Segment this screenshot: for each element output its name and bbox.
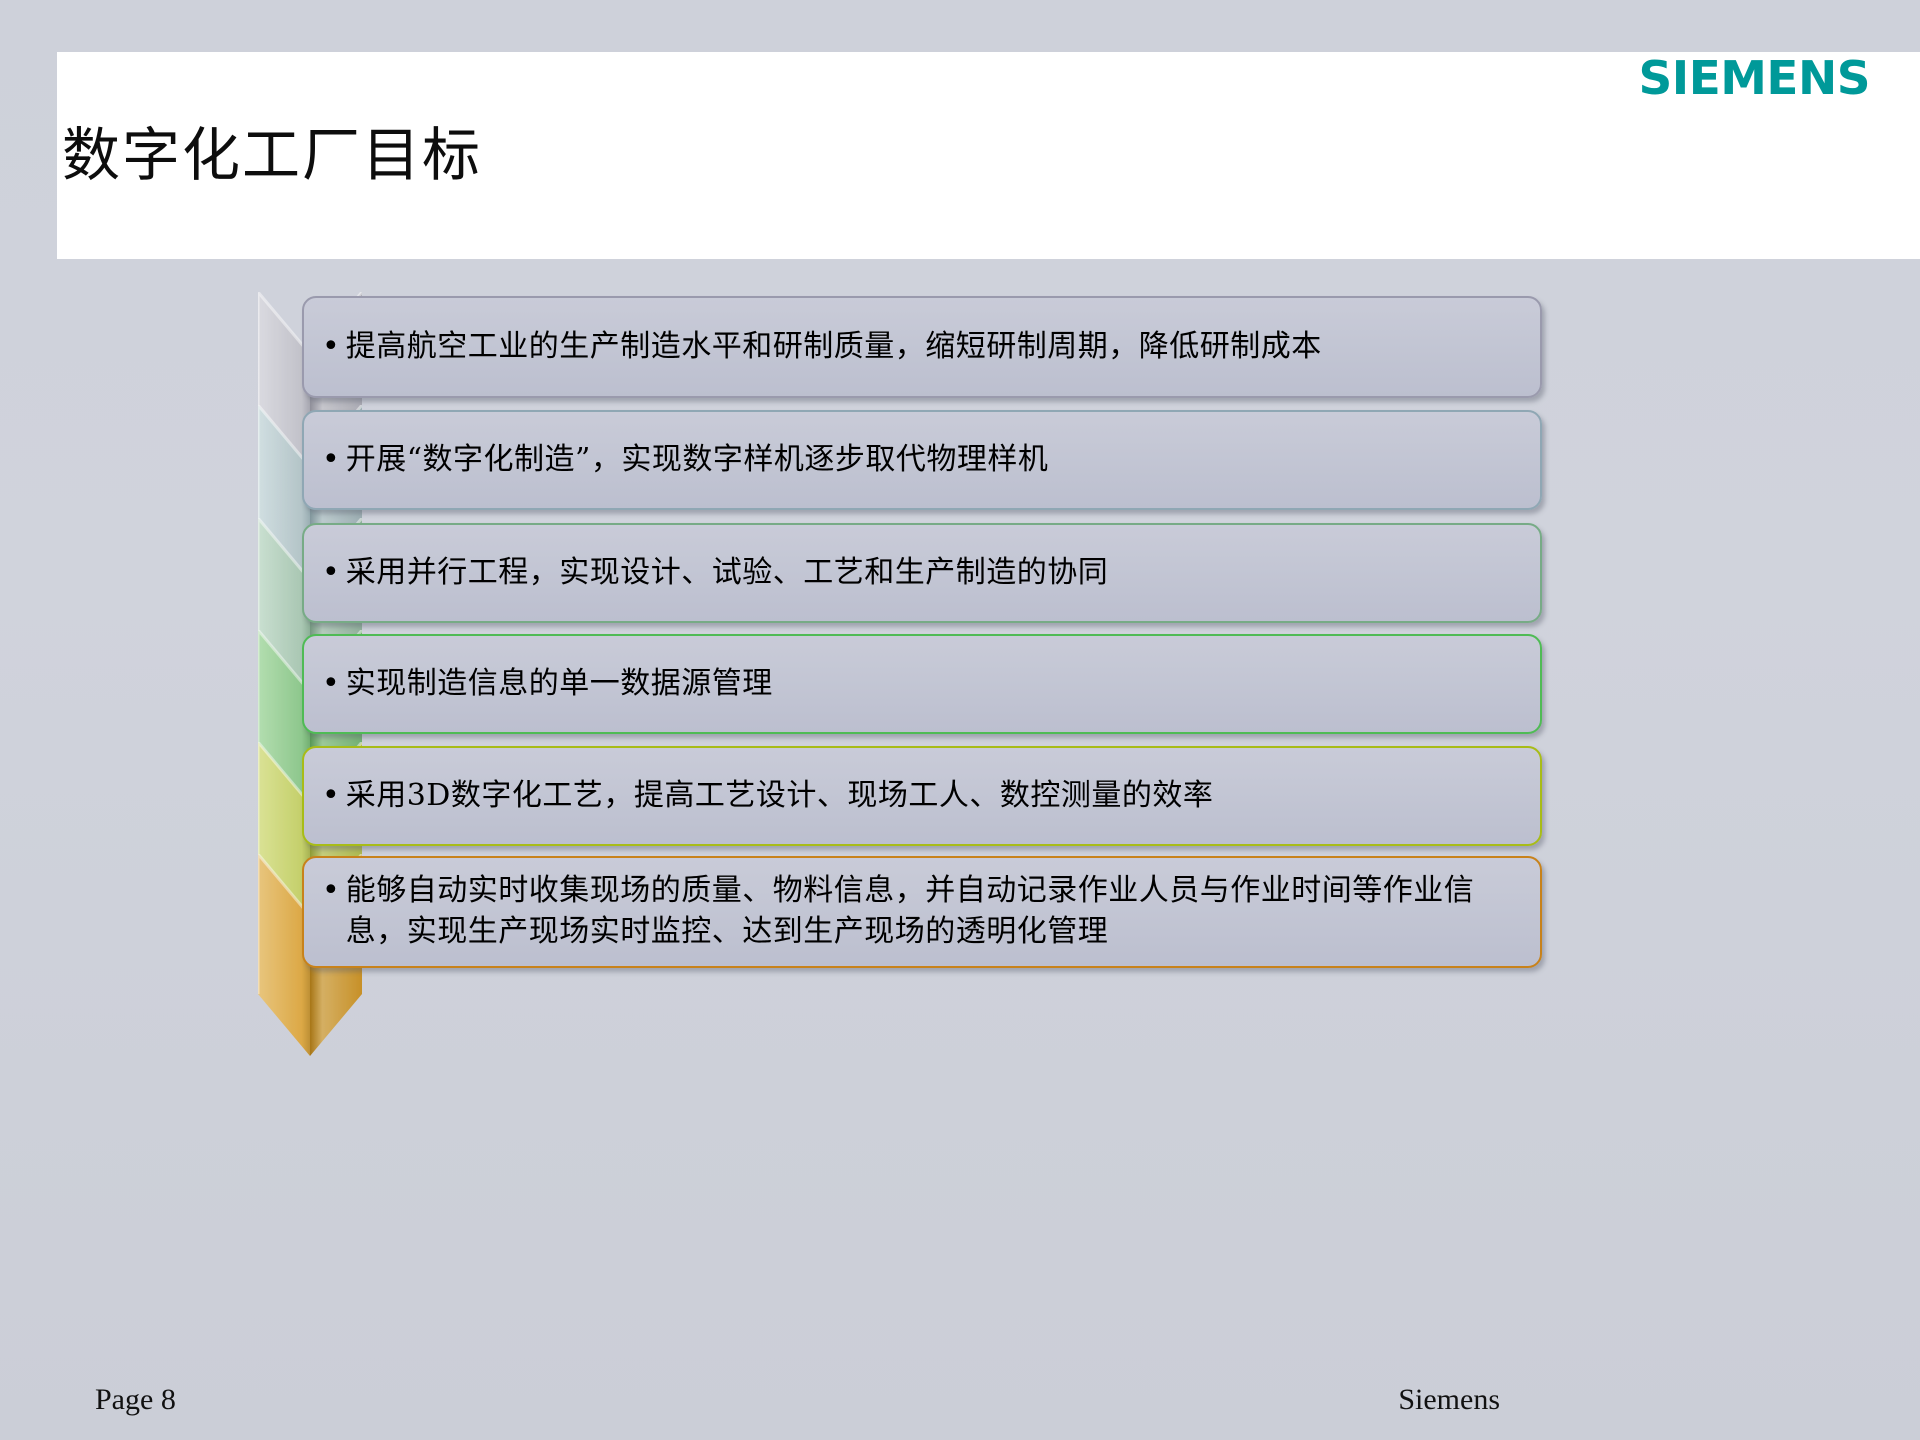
bullet-icon: • <box>322 871 340 911</box>
footer-page-number: Page 8 <box>95 1383 176 1417</box>
objective-text: 开展“数字化制造”，实现数字样机逐步取代物理样机 <box>346 440 1049 481</box>
objective-callout: •能够自动实时收集现场的质量、物料信息，并自动记录作业人员与作业时间等作业信息，… <box>302 856 1542 968</box>
bullet-icon: • <box>322 776 340 816</box>
objective-callout: •提高航空工业的生产制造水平和研制质量，缩短研制周期，降低研制成本 <box>302 296 1542 398</box>
objective-text: 实现制造信息的单一数据源管理 <box>346 664 773 705</box>
bullet-icon: • <box>322 440 340 480</box>
footer-company-name: Siemens <box>1398 1383 1500 1417</box>
objective-callout: •采用并行工程，实现设计、试验、工艺和生产制造的协同 <box>302 523 1542 623</box>
bullet-icon: • <box>322 553 340 593</box>
objective-callout: •采用3D数字化工艺，提高工艺设计、现场工人、数控测量的效率 <box>302 746 1542 846</box>
objective-text: 采用3D数字化工艺，提高工艺设计、现场工人、数控测量的效率 <box>346 776 1214 817</box>
slide-canvas: 数字化工厂目标 SIEMENS •提高航空工业的生产制造水平和研制质量，缩短研制… <box>0 0 1920 1440</box>
objective-callout: •实现制造信息的单一数据源管理 <box>302 634 1542 734</box>
bullet-icon: • <box>322 664 340 704</box>
objective-callout: •开展“数字化制造”，实现数字样机逐步取代物理样机 <box>302 410 1542 510</box>
objective-text: 能够自动实时收集现场的质量、物料信息，并自动记录作业人员与作业时间等作业信息，实… <box>346 871 1518 953</box>
objective-text: 提高航空工业的生产制造水平和研制质量，缩短研制周期，降低研制成本 <box>346 327 1322 368</box>
bullet-icon: • <box>322 327 340 367</box>
objective-text: 采用并行工程，实现设计、试验、工艺和生产制造的协同 <box>346 553 1109 594</box>
objective-list: •提高航空工业的生产制造水平和研制质量，缩短研制周期，降低研制成本•开展“数字化… <box>0 0 1920 1440</box>
